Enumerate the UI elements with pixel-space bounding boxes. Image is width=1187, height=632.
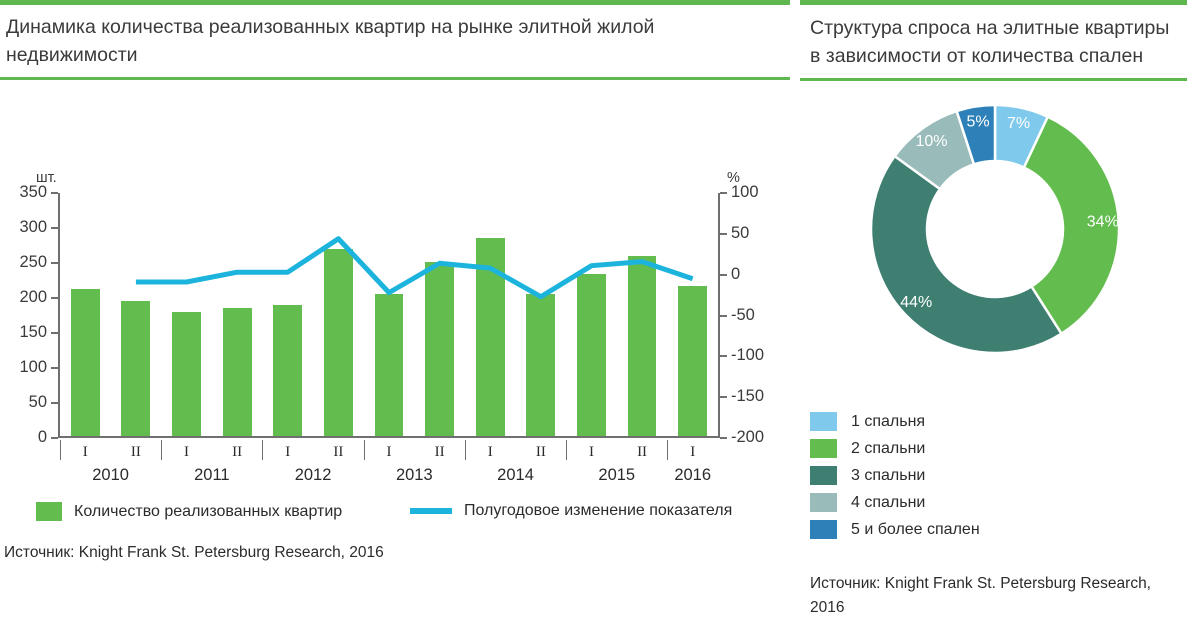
y-axis-tick-label-left: 300 xyxy=(19,219,47,236)
legend-item: Полугодовое изменение показателя xyxy=(410,502,732,520)
x-axis-group-separator xyxy=(566,440,567,460)
y-axis-tick-label-right: 0 xyxy=(731,266,740,283)
right-panel-source: Источник: Knight Frank St. Petersburg Re… xyxy=(810,572,1170,620)
y-axis-tick-label-right: 100 xyxy=(731,184,759,201)
x-axis-year-label: 2011 xyxy=(194,466,229,485)
x-axis-year-label: 2016 xyxy=(674,466,711,485)
y-axis-tick-right xyxy=(720,355,727,357)
legend-item: 4 спальни xyxy=(810,489,1187,516)
left-panel: Динамика количества реализованных кварти… xyxy=(0,0,790,632)
y-axis-tick-right xyxy=(720,437,727,439)
y-axis-tick-left xyxy=(51,402,58,404)
x-axis-group-separator xyxy=(364,440,365,460)
y-axis-tick-right xyxy=(720,274,727,276)
legend-item-label: Полугодовое изменение показателя xyxy=(464,502,732,520)
donut-slice-label: 7% xyxy=(1007,115,1030,132)
x-axis-group-separator xyxy=(161,440,162,460)
y-axis-tick-left xyxy=(51,227,58,229)
x-axis-year-label: 2015 xyxy=(598,466,635,485)
x-axis-group-separator xyxy=(465,440,466,460)
x-axis-half-label: II xyxy=(536,444,546,461)
donut-slice-label: 5% xyxy=(967,114,990,131)
donut-chart-svg: 7%34%44%10%5% xyxy=(855,89,1135,369)
line-series xyxy=(58,193,720,438)
x-axis-half-label: II xyxy=(232,444,242,461)
y-axis-tick-label-right: 50 xyxy=(731,225,749,242)
bar-chart-legend: Количество реализованных квартирПолугодо… xyxy=(0,498,790,534)
donut-slice xyxy=(871,156,1061,353)
x-axis-half-label: I xyxy=(589,444,594,461)
y-axis-tick-left xyxy=(51,367,58,369)
y-axis-tick-label-left: 150 xyxy=(19,324,47,341)
y-axis-tick-label-left: 200 xyxy=(19,289,47,306)
legend-color-swatch xyxy=(810,520,837,539)
y-axis-tick-label-right: -100 xyxy=(731,347,764,364)
y-axis-tick-label-right: -200 xyxy=(731,429,764,446)
x-axis-year-label: 2014 xyxy=(497,466,534,485)
left-panel-source: Источник: Knight Frank St. Petersburg Re… xyxy=(4,541,704,565)
y-axis-tick-left xyxy=(51,262,58,264)
legend-line-swatch xyxy=(410,508,452,514)
y-axis-tick-label-left: 50 xyxy=(29,394,47,411)
legend-color-swatch xyxy=(810,466,837,485)
bar-chart: шт. % 050100150200250300350-200-150-100-… xyxy=(0,80,790,390)
legend-item-label: 2 спальни xyxy=(851,440,925,458)
y-axis-tick-left xyxy=(51,437,58,439)
legend-item-label: 3 спальни xyxy=(851,467,925,485)
x-axis-half-label: I xyxy=(285,444,290,461)
legend-item: 3 спальни xyxy=(810,462,1187,489)
donut-chart: 7%34%44%10%5% xyxy=(800,81,1187,371)
legend-item: 2 спальни xyxy=(810,435,1187,462)
donut-slice-label: 10% xyxy=(916,133,948,150)
legend-color-swatch xyxy=(810,493,837,512)
x-axis-half-label: II xyxy=(131,444,141,461)
x-axis-labels: III2010III2011III2012III2013III2014III20… xyxy=(58,438,720,490)
left-panel-title: Динамика количества реализованных кварти… xyxy=(4,5,790,77)
bar-chart-plot: 050100150200250300350-200-150-100-500501… xyxy=(58,193,720,438)
x-axis-half-label: II xyxy=(333,444,343,461)
y-axis-tick-label-right: -50 xyxy=(731,307,755,324)
y-axis-tick-left xyxy=(51,297,58,299)
legend-item: Количество реализованных квартир xyxy=(36,502,342,521)
x-axis-half-label: II xyxy=(435,444,445,461)
x-axis-group-separator xyxy=(667,440,668,460)
legend-square-swatch xyxy=(36,502,62,521)
legend-item-label: 1 спальня xyxy=(851,413,925,431)
y-axis-tick-label-left: 350 xyxy=(19,184,47,201)
y-axis-tick-right xyxy=(720,315,727,317)
y-axis-tick-label-left: 0 xyxy=(38,429,47,446)
donut-slice-label: 34% xyxy=(1087,213,1119,230)
legend-item-label: 5 и более спален xyxy=(851,521,980,539)
y-axis-tick-label-left: 250 xyxy=(19,254,47,271)
x-axis-year-label: 2010 xyxy=(92,466,129,485)
legend-item: 1 спальня xyxy=(810,408,1187,435)
x-axis-year-label: 2012 xyxy=(295,466,332,485)
legend-color-swatch xyxy=(810,412,837,431)
x-axis-half-label: I xyxy=(184,444,189,461)
donut-chart-legend: 1 спальня2 спальни3 спальни4 спальни5 и … xyxy=(800,408,1187,543)
x-axis-half-label: I xyxy=(83,444,88,461)
legend-item-label: 4 спальни xyxy=(851,494,925,512)
y-axis-tick-right xyxy=(720,233,727,235)
y-axis-tick-label-left: 100 xyxy=(19,359,47,376)
report-page: Динамика количества реализованных кварти… xyxy=(0,0,1187,632)
legend-item: 5 и более спален xyxy=(810,516,1187,543)
y-axis-tick-right xyxy=(720,396,727,398)
y-axis-tick-left xyxy=(51,192,58,194)
donut-slice-label: 44% xyxy=(900,294,932,311)
right-panel-title: Структура спроса на элитные квартиры в з… xyxy=(810,5,1187,78)
x-axis-year-label: 2013 xyxy=(396,466,433,485)
x-axis-half-label: I xyxy=(488,444,493,461)
y-axis-tick-left xyxy=(51,332,58,334)
y-axis-tick-label-right: -150 xyxy=(731,388,764,405)
x-axis-group-separator xyxy=(60,440,61,460)
y-axis-tick-right xyxy=(720,192,727,194)
right-panel: Структура спроса на элитные квартиры в з… xyxy=(800,0,1187,632)
trend-line xyxy=(136,239,693,297)
x-axis-group-separator xyxy=(262,440,263,460)
legend-item-label: Количество реализованных квартир xyxy=(74,503,342,521)
x-axis-half-label: II xyxy=(637,444,647,461)
x-axis-half-label: I xyxy=(387,444,392,461)
legend-color-swatch xyxy=(810,439,837,458)
x-axis-half-label: I xyxy=(690,444,695,461)
